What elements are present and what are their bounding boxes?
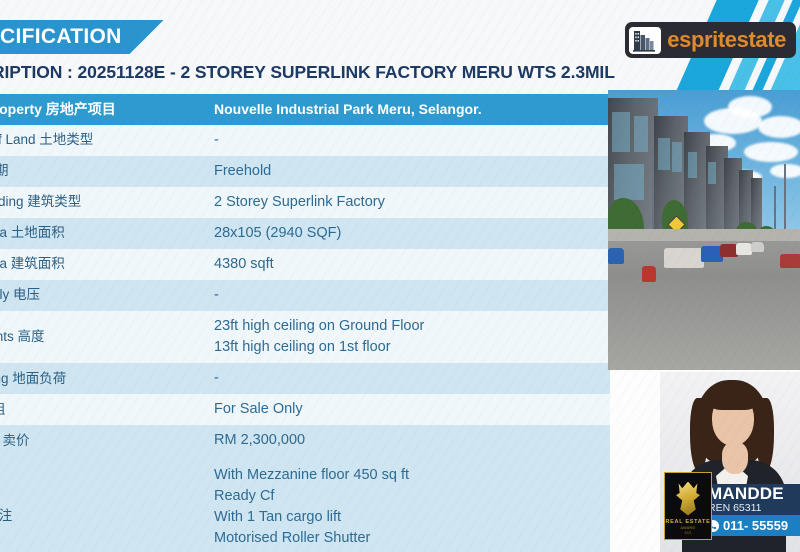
row-value-text: Freehold xyxy=(214,161,271,182)
table-header-value: Nouvelle Industrial Park Meru, Selangor. xyxy=(206,94,610,125)
row-label: Price 卖价 xyxy=(0,425,206,456)
agent-fringe xyxy=(708,384,758,410)
agent-hand xyxy=(722,442,748,474)
table-row: 占有期Freehold xyxy=(0,156,610,187)
row-value-text: - xyxy=(214,130,219,151)
row-value: - xyxy=(206,363,610,394)
table-row: oading 地面负荷- xyxy=(0,363,610,394)
brand-logo[interactable]: espritestate xyxy=(625,22,796,58)
award-subtitle: AWARD xyxy=(680,526,695,530)
award-title: REAL ESTATE xyxy=(666,519,711,525)
table-row: Supply 电压- xyxy=(0,280,610,311)
agent-name: MANDDE xyxy=(708,485,800,503)
specification-banner: CIFICATION xyxy=(0,20,164,54)
flame-icon xyxy=(675,482,701,516)
agent-phone: 011- 55559 xyxy=(723,518,788,533)
remarks-label: ks 备注 xyxy=(0,456,206,552)
table-header-label: ct Property 房地产项目 xyxy=(0,94,206,125)
row-value-text: - xyxy=(214,285,219,306)
row-value: 4380 sqft xyxy=(206,249,610,280)
remarks-value: With Mezzanine floor 450 sq ft Ready Cf … xyxy=(206,456,610,552)
row-value: - xyxy=(206,125,610,156)
row-label: Supply 电压 xyxy=(0,280,206,311)
row-label: 占有期 xyxy=(0,156,206,187)
row-value: 23ft high ceiling on Ground Floor 13ft h… xyxy=(206,311,610,363)
row-value: RM 2,300,000 xyxy=(206,425,610,456)
row-label: Heights 高度 xyxy=(0,311,206,363)
row-label: p Area 土地面积 xyxy=(0,218,206,249)
row-value-text: 2 Storey Superlink Factory xyxy=(214,192,385,213)
table-row-remarks: ks 备注 With Mezzanine floor 450 sq ft Rea… xyxy=(0,456,610,552)
row-label: oading 地面负荷 xyxy=(0,363,206,394)
specification-sheet: CIFICATION RIPTION : 20251128E - 2 STORE… xyxy=(0,0,800,552)
row-value: For Sale Only xyxy=(206,394,610,425)
table-row: Heights 高度23ft high ceiling on Ground Fl… xyxy=(0,311,610,363)
row-value: 2 Storey Superlink Factory xyxy=(206,187,610,218)
specification-table: ct Property 房地产项目 Nouvelle Industrial Pa… xyxy=(0,94,610,552)
page-header: CIFICATION RIPTION : 20251128E - 2 STORE… xyxy=(0,0,800,94)
row-label: p Area 建筑面积 xyxy=(0,249,206,280)
row-value: Freehold xyxy=(206,156,610,187)
row-value-text: 4380 sqft xyxy=(214,254,274,275)
table-header-row: ct Property 房地产项目 Nouvelle Industrial Pa… xyxy=(0,94,610,125)
agent-name-bar: MANDDE REN 65311 xyxy=(700,484,800,516)
row-value-text: For Sale Only xyxy=(214,399,303,420)
agent-hair-left xyxy=(690,398,708,472)
agent-ren-number: REN 65311 xyxy=(708,503,800,515)
table-row: Price 卖价RM 2,300,000 xyxy=(0,425,610,456)
row-label: f Building 建筑类型 xyxy=(0,187,206,218)
table-row: ory of Land 土地类型- xyxy=(0,125,610,156)
row-value-text: - xyxy=(214,368,219,389)
table-row: p Area 建筑面积4380 sqft xyxy=(0,249,610,280)
row-value-text: RM 2,300,000 xyxy=(214,430,305,451)
table-row: y 月租For Sale Only xyxy=(0,394,610,425)
row-value-text: 23ft high ceiling on Ground Floor 13ft h… xyxy=(214,316,424,358)
table-row: f Building 建筑类型2 Storey Superlink Factor… xyxy=(0,187,610,218)
agent-card[interactable]: MANDDE REN 65311 011- 55559 REAL ESTATE … xyxy=(660,372,800,552)
row-label: ory of Land 土地类型 xyxy=(0,125,206,156)
row-value-text: 28x105 (2940 SQF) xyxy=(214,223,341,244)
agent-phone-bar[interactable]: 011- 55559 xyxy=(700,515,800,536)
building-icon xyxy=(629,27,661,54)
row-value: 28x105 (2940 SQF) xyxy=(206,218,610,249)
real-estate-award-badge: REAL ESTATE AWARD 2021 xyxy=(664,472,712,540)
description-line: RIPTION : 20251128E - 2 STOREY SUPERLINK… xyxy=(0,62,615,83)
property-photo[interactable] xyxy=(608,90,800,370)
award-year: 2021 xyxy=(684,531,691,535)
brand-name: espritestate xyxy=(667,29,786,51)
table-row: p Area 土地面积28x105 (2940 SQF) xyxy=(0,218,610,249)
row-label: y 月租 xyxy=(0,394,206,425)
row-value: - xyxy=(206,280,610,311)
page-title: CIFICATION xyxy=(0,25,122,49)
